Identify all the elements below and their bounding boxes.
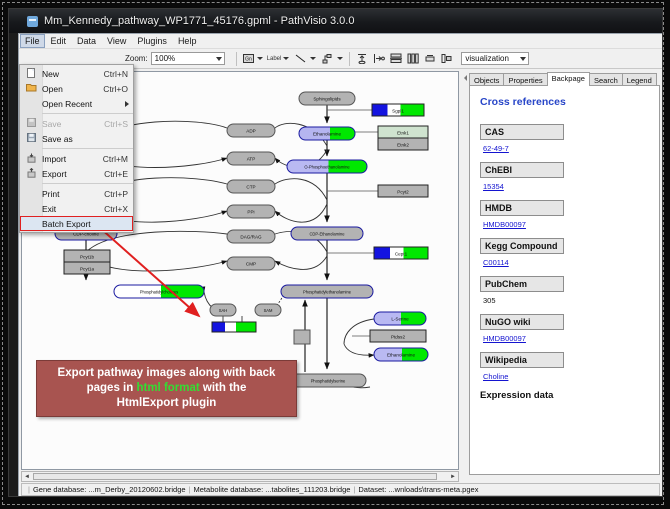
toolbar-divider-2 <box>349 52 350 66</box>
node-anchor-box <box>294 330 310 344</box>
callout-line-2-post: with the <box>200 382 247 394</box>
status-bar: | Gene database: ...m_Derby_20120602.bri… <box>21 483 660 496</box>
chevron-down-icon <box>520 57 526 61</box>
node-sphingolipids[interactable]: Sphingolipids <box>299 92 355 105</box>
file-menu-label-open: Open <box>42 84 103 94</box>
status-separator-1: | <box>189 485 191 494</box>
file-menu-accel-print: Ctrl+P <box>104 189 133 199</box>
align-left-icon[interactable] <box>371 51 386 66</box>
file-menu-label-save-as: Save as <box>42 134 133 144</box>
node-pcyt1b[interactable]: Pcyt1b <box>64 250 110 262</box>
menu-view[interactable]: View <box>102 34 131 48</box>
svg-text:Ptdss2: Ptdss2 <box>391 334 405 339</box>
node-dag-rag[interactable]: DAG/RAG <box>227 230 275 243</box>
status-dataset: Dataset: ...wnloads\trans-meta.pgex <box>358 485 478 494</box>
status-gene-database: Gene database: ...m_Derby_20120602.bridg… <box>33 485 186 494</box>
svg-text:ATP: ATP <box>247 157 256 162</box>
svg-text:Pcyt1b: Pcyt1b <box>80 254 94 259</box>
svg-text:CDP-Ethanolamine: CDP-Ethanolamine <box>309 231 345 236</box>
svg-text:Cept1: Cept1 <box>395 251 408 256</box>
menu-file[interactable]: File <box>20 34 45 48</box>
node-ppi[interactable]: PPi <box>227 205 275 218</box>
status-separator-2: | <box>353 485 355 494</box>
xref-label-cas: CAS <box>480 124 564 140</box>
datanode-dropdown-icon[interactable] <box>257 52 264 66</box>
node-ethanolamine-top[interactable]: Ethanolamine <box>299 127 355 140</box>
node-atp[interactable]: ATP <box>227 152 275 165</box>
visualization-value: visualization <box>462 54 509 63</box>
import-icon <box>20 153 42 165</box>
group-icon[interactable] <box>422 51 437 66</box>
file-menu-accel-exit: Ctrl+X <box>104 204 133 214</box>
pathvisio-application-window: Mm_Kennedy_pathway_WP1771_45176.gpml - P… <box>8 8 663 497</box>
file-menu-item-open-recent[interactable]: Open Recent <box>20 96 133 111</box>
order-icon[interactable] <box>439 51 454 66</box>
visualization-combobox[interactable]: visualization <box>461 52 529 65</box>
node-cmp[interactable]: CMP <box>227 257 275 270</box>
open-folder-icon <box>20 83 42 94</box>
label-dropdown-icon[interactable] <box>282 52 289 66</box>
svg-text:Pcyt1a: Pcyt1a <box>80 266 94 271</box>
node-ctp[interactable]: CTP <box>227 180 275 193</box>
file-menu-item-import[interactable]: Import Ctrl+M <box>20 151 133 166</box>
file-menu-label-batch-export: Batch Export <box>42 219 133 229</box>
xref-value-pubchem: 305 <box>480 296 651 305</box>
file-menu-divider-1 <box>42 113 133 114</box>
file-menu-accel-open: Ctrl+O <box>103 84 133 94</box>
interaction-dropdown-icon[interactable] <box>336 52 343 66</box>
file-menu-label-open-recent: Open Recent <box>42 99 133 109</box>
new-document-icon <box>20 68 42 80</box>
svg-text:Phosphatidylserine: Phosphatidylserine <box>311 378 346 383</box>
file-menu-label-import: Import <box>42 154 103 164</box>
xref-value-wikipedia[interactable]: Choline <box>480 372 651 381</box>
menu-edit[interactable]: Edit <box>46 34 72 48</box>
menu-bar: File Edit Data View Plugins Help <box>19 34 662 49</box>
svg-text:L-Serine: L-Serine <box>391 317 409 322</box>
line-tool-icon[interactable] <box>293 51 308 66</box>
file-menu-accel-save: Ctrl+S <box>104 119 133 129</box>
xref-label-kegg-compound: Kegg Compound <box>480 238 564 254</box>
tab-backpage[interactable]: Backpage <box>547 72 590 87</box>
menu-help[interactable]: Help <box>173 34 202 48</box>
svg-text:ADP: ADP <box>246 129 255 134</box>
node-pcyt1a[interactable]: Pcyt1a <box>64 262 110 274</box>
node-adp[interactable]: ADP <box>227 124 275 137</box>
xref-chebi: ChEBI 15354 <box>480 162 651 191</box>
svg-text:CTP: CTP <box>246 185 255 190</box>
node-pcyt2[interactable]: Pcyt2 <box>378 185 428 197</box>
svg-text:PPi: PPi <box>247 210 254 215</box>
window-title: Mm_Kennedy_pathway_WP1771_45176.gpml - P… <box>44 15 354 27</box>
client-area: File Edit Data View Plugins Help Zoom: 1… <box>18 33 663 497</box>
backpage-content: Cross references CAS 62-49-7 ChEBI 15354… <box>469 85 660 475</box>
align-top-icon[interactable] <box>354 51 369 66</box>
cross-references-title: Cross references <box>480 96 651 108</box>
file-menu-dropdown[interactable]: New Ctrl+N Open Ctrl+O Open Recent <box>19 64 134 233</box>
node-cdp-ethanolamine[interactable]: CDP-Ethanolamine <box>291 227 363 240</box>
file-menu-divider-2 <box>42 148 133 149</box>
node-ethanolamine-bottom[interactable]: Ethanolamine <box>374 348 428 361</box>
node-etnk2[interactable]: Etnk2 <box>378 138 428 150</box>
expression-data-title: Expression data <box>480 390 651 401</box>
node-phosphatidylethanolamine[interactable]: Phosphatidylethanolamine <box>281 285 373 298</box>
xref-value-kegg-compound[interactable]: C00114 <box>480 258 651 267</box>
xref-value-cas[interactable]: 62-49-7 <box>480 144 651 153</box>
menu-plugins[interactable]: Plugins <box>132 34 172 48</box>
node-etnk1[interactable]: Etnk1 <box>378 126 428 138</box>
xref-pubchem: PubChem 305 <box>480 276 651 305</box>
toolbar-divider <box>236 52 237 66</box>
file-menu-label-export: Export <box>42 169 104 179</box>
xref-hmdb: HMDB HMDB00097 <box>480 200 651 229</box>
file-menu-item-batch-export[interactable]: Batch Export <box>20 216 133 231</box>
screenshot-root: Mm_Kennedy_pathway_WP1771_45176.gpml - P… <box>0 0 670 509</box>
node-sah[interactable]: SAH <box>210 304 236 316</box>
xref-value-chebi[interactable]: 15354 <box>480 182 651 191</box>
file-menu-accel-export: Ctrl+E <box>104 169 133 179</box>
callout-line-1: Export pathway images along with back <box>58 367 276 379</box>
svg-text:Ethanolamine: Ethanolamine <box>313 132 342 137</box>
file-menu-accel-new: Ctrl+N <box>104 69 133 79</box>
zoom-combobox[interactable]: 100% <box>151 52 225 65</box>
scroll-right-icon[interactable]: ► <box>448 472 458 481</box>
xref-nugo-wiki: NuGO wiki HMDB00097 <box>480 314 651 343</box>
status-metabolite-database: Metabolite database: ...tabolites_111203… <box>194 485 351 494</box>
callout-line-3: HtmlExport plugin <box>117 397 217 409</box>
zoom-value: 100% <box>152 54 175 63</box>
zoom-label: Zoom: <box>125 54 148 63</box>
file-menu-item-export[interactable]: Export Ctrl+E <box>20 166 133 181</box>
node-cept1[interactable]: Cept1 <box>374 247 428 259</box>
node-pemt-gene[interactable] <box>212 322 256 332</box>
align-center-icon[interactable] <box>388 51 403 66</box>
side-panel: Objects Properties Backpage Search Legen… <box>463 71 660 482</box>
label-tool-icon[interactable]: Label <box>267 56 282 62</box>
callout-highlight-html-format: html format <box>136 382 199 394</box>
svg-text:Sphingolipids: Sphingolipids <box>313 97 341 102</box>
file-menu-accel-import: Ctrl+M <box>103 154 133 164</box>
file-menu-label-new: New <box>42 69 104 79</box>
title-bar: Mm_Kennedy_pathway_WP1771_45176.gpml - P… <box>9 9 663 33</box>
xref-label-pubchem: PubChem <box>480 276 564 292</box>
status-separator-0: | <box>28 485 30 494</box>
svg-text:CMP: CMP <box>246 262 256 267</box>
svg-text:Gn: Gn <box>245 56 252 62</box>
node-l-serine[interactable]: L-Serine <box>374 312 426 325</box>
node-ptdss2[interactable]: Ptdss2 <box>370 330 426 342</box>
chevron-down-icon <box>216 57 222 61</box>
save-as-icon <box>20 133 42 144</box>
xref-wikipedia: Wikipedia Choline <box>480 352 651 381</box>
xref-value-hmdb[interactable]: HMDB00097 <box>480 220 651 229</box>
xref-value-nugo-wiki[interactable]: HMDB00097 <box>480 334 651 343</box>
line-dropdown-icon[interactable] <box>309 52 316 66</box>
xref-kegg-compound: Kegg Compound C00114 <box>480 238 651 267</box>
file-menu-item-print[interactable]: Print Ctrl+P <box>20 186 133 201</box>
file-menu-item-exit[interactable]: Exit Ctrl+X <box>20 201 133 216</box>
save-disk-icon <box>20 118 42 129</box>
canvas-horizontal-scrollbar[interactable]: ◄ ► <box>21 471 459 482</box>
svg-text:O-Phosphoethanolamine: O-Phosphoethanolamine <box>304 164 350 169</box>
distribute-icon[interactable] <box>405 51 420 66</box>
xref-label-wikipedia: Wikipedia <box>480 352 564 368</box>
annotation-callout: Export pathway images along with back pa… <box>36 360 297 417</box>
xref-label-nugo-wiki: NuGO wiki <box>480 314 564 330</box>
xref-label-chebi: ChEBI <box>480 162 564 178</box>
svg-text:Etnk1: Etnk1 <box>397 130 409 135</box>
file-menu-item-new[interactable]: New Ctrl+N <box>20 66 133 81</box>
export-icon <box>20 168 42 180</box>
file-menu-item-open[interactable]: Open Ctrl+O <box>20 81 133 96</box>
side-panel-tabs: Objects Properties Backpage Search Legen… <box>469 71 660 86</box>
node-phosphatidylcholines[interactable]: Phosphatidylcholines <box>114 285 204 298</box>
svg-text:Phosphatidylethanolamine: Phosphatidylethanolamine <box>303 289 352 294</box>
file-menu-label-save: Save <box>42 119 104 129</box>
svg-text:SAH: SAH <box>219 308 227 313</box>
svg-text:Sgpl1: Sgpl1 <box>392 108 404 113</box>
file-menu-item-save: Save Ctrl+S <box>20 116 133 131</box>
menu-data[interactable]: Data <box>72 34 101 48</box>
svg-text:DAG/RAG: DAG/RAG <box>240 235 262 240</box>
interaction-tool-icon[interactable] <box>320 51 335 66</box>
xref-label-hmdb: HMDB <box>480 200 564 216</box>
scroll-left-icon[interactable]: ◄ <box>22 472 32 481</box>
annotation-callout-text: Export pathway images along with back pa… <box>52 366 282 411</box>
file-menu-label-exit: Exit <box>42 204 104 214</box>
node-sam[interactable]: SAM <box>255 304 281 316</box>
file-menu-divider-3 <box>42 183 133 184</box>
node-sgpl1[interactable]: Sgpl1 <box>372 104 424 116</box>
datanode-tool-icon[interactable]: Gn <box>241 51 256 66</box>
pathvisio-icon <box>27 16 38 27</box>
node-phosphatidylserine[interactable]: Phosphatidylserine <box>290 374 366 387</box>
svg-text:Ethanolamine: Ethanolamine <box>387 353 416 358</box>
svg-text:SAM: SAM <box>264 308 273 313</box>
file-menu-item-save-as[interactable]: Save as <box>20 131 133 146</box>
file-menu-label-print: Print <box>42 189 104 199</box>
node-o-phosphoethanolamine[interactable]: O-Phosphoethanolamine <box>287 160 367 173</box>
callout-line-2-pre: pages in <box>87 382 137 394</box>
svg-text:Etnk2: Etnk2 <box>397 142 409 147</box>
svg-text:Pcyt2: Pcyt2 <box>397 189 409 194</box>
svg-text:Phosphatidylcholines: Phosphatidylcholines <box>140 289 178 294</box>
scrollbar-thumb[interactable] <box>33 473 437 480</box>
xref-cas: CAS 62-49-7 <box>480 124 651 153</box>
